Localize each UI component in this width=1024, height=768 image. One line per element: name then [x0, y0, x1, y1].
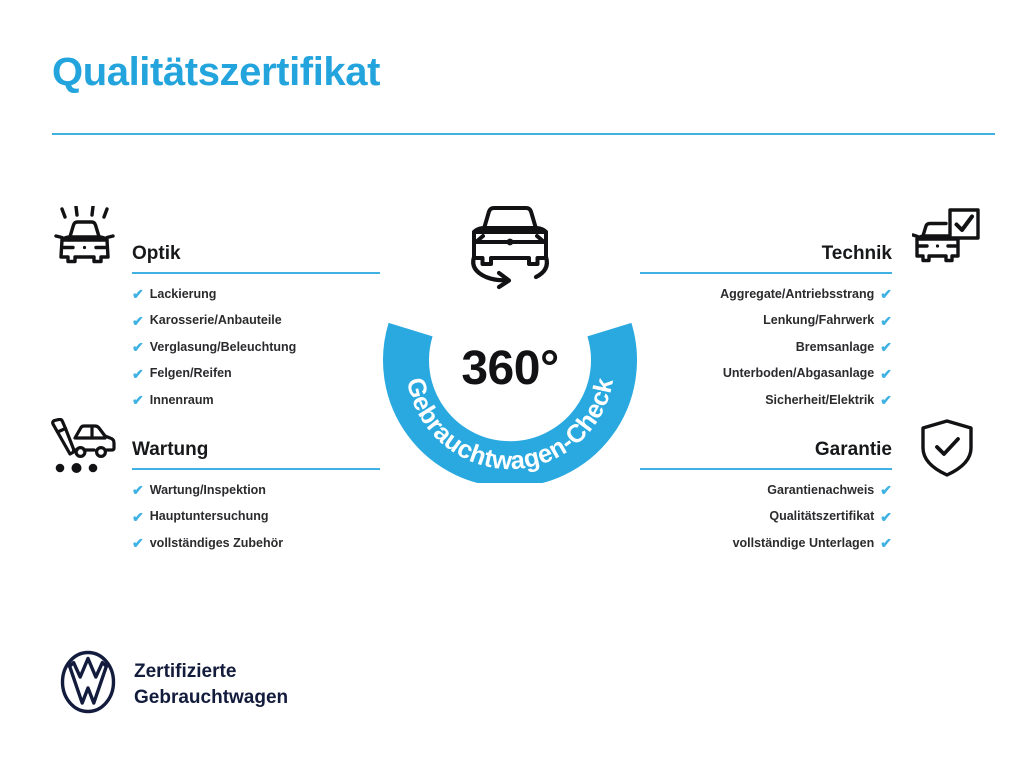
list-item-label: Bremsanlage [796, 341, 875, 354]
header-divider [52, 133, 995, 135]
section-heading-optik: Optik [132, 244, 380, 263]
list-item-label: vollständiges Zubehör [150, 537, 283, 550]
check-icon: ✔ [132, 287, 144, 301]
list-item-label: Karosserie/Anbauteile [150, 314, 282, 327]
list-item: ✔Unterboden/Abgasanlage [640, 367, 892, 381]
list-item-label: Wartung/Inspektion [150, 484, 266, 497]
car-checkbox-icon [912, 208, 980, 268]
logo-text-line1: Zertifizierte [134, 659, 288, 684]
list-item-label: Felgen/Reifen [150, 367, 232, 380]
page-title: Qualitätszertifikat [52, 50, 380, 94]
list-item: ✔Garantienachweis [640, 483, 892, 497]
list-item: ✔Felgen/Reifen [132, 367, 380, 381]
list-item: ✔vollständiges Zubehör [132, 536, 380, 550]
list-item-label: Lenkung/Fahrwerk [763, 314, 874, 327]
list-item-label: Garantienachweis [767, 484, 874, 497]
list-item-label: Qualitätszertifikat [769, 510, 874, 523]
vw-certified-logo: Zertifizierte Gebrauchtwagen [60, 650, 288, 719]
check-icon: ✔ [132, 314, 144, 328]
car-front-shine-icon [48, 206, 122, 268]
list-item-label: vollständige Unterlagen [733, 537, 875, 550]
list-item: ✔Innenraum [132, 393, 380, 407]
check-icon: ✔ [132, 483, 144, 497]
section-optik: Optik ✔Lackierung ✔Karosserie/Anbauteile… [132, 244, 380, 420]
section-heading-wartung: Wartung [132, 440, 380, 459]
check-icon: ✔ [880, 287, 892, 301]
section-heading-garantie: Garantie [640, 440, 892, 459]
vw-logo-icon [60, 650, 116, 719]
badge-number: 360° [376, 345, 644, 393]
list-item-label: Innenraum [150, 394, 214, 407]
check-icon: ✔ [880, 510, 892, 524]
section-divider-wartung [132, 468, 380, 470]
check-icon: ✔ [132, 340, 144, 354]
logo-text-line2: Gebrauchtwagen [134, 685, 288, 710]
check-icon: ✔ [880, 536, 892, 550]
section-heading-technik: Technik [640, 244, 892, 263]
check-icon: ✔ [880, 340, 892, 354]
list-item-label: Aggregate/Antriebsstrang [720, 288, 874, 301]
list-item: ✔Qualitätszertifikat [640, 510, 892, 524]
list-item: ✔Sicherheit/Elektrik [640, 393, 892, 407]
wrench-car-icon [48, 418, 118, 476]
car-rotate-icon [452, 198, 568, 294]
check-icon: ✔ [880, 314, 892, 328]
checklist-optik: ✔Lackierung ✔Karosserie/Anbauteile ✔Verg… [132, 287, 380, 407]
list-item-label: Verglasung/Beleuchtung [150, 341, 297, 354]
list-item: ✔Lenkung/Fahrwerk [640, 314, 892, 328]
certificate-page: Qualitätszertifikat Optik [0, 0, 1024, 768]
section-technik: Technik ✔Aggregate/Antriebsstrang ✔Lenku… [640, 244, 892, 420]
check-icon: ✔ [880, 483, 892, 497]
checklist-garantie: ✔Garantienachweis ✔Qualitätszertifikat ✔… [640, 483, 892, 550]
list-item: ✔Wartung/Inspektion [132, 483, 380, 497]
check-icon: ✔ [880, 367, 892, 381]
section-divider-optik [132, 272, 380, 274]
check-icon: ✔ [132, 536, 144, 550]
checklist-wartung: ✔Wartung/Inspektion ✔Hauptuntersuchung ✔… [132, 483, 380, 550]
list-item: ✔vollständige Unterlagen [640, 536, 892, 550]
list-item: ✔Bremsanlage [640, 340, 892, 354]
section-wartung: Wartung ✔Wartung/Inspektion ✔Hauptunters… [132, 440, 380, 563]
list-item-label: Hauptuntersuchung [150, 510, 269, 523]
checklist-technik: ✔Aggregate/Antriebsstrang ✔Lenkung/Fahrw… [640, 287, 892, 407]
shield-check-icon [918, 418, 976, 478]
list-item: ✔Lackierung [132, 287, 380, 301]
list-item-label: Lackierung [150, 288, 217, 301]
list-item: ✔Hauptuntersuchung [132, 510, 380, 524]
section-divider-technik [640, 272, 892, 274]
check-icon: ✔ [132, 510, 144, 524]
list-item: ✔Verglasung/Beleuchtung [132, 340, 380, 354]
section-garantie: Garantie ✔Garantienachweis ✔Qualitätszer… [640, 440, 892, 563]
list-item: ✔Karosserie/Anbauteile [132, 314, 380, 328]
section-divider-garantie [640, 468, 892, 470]
list-item-label: Sicherheit/Elektrik [765, 394, 874, 407]
list-item-label: Unterboden/Abgasanlage [723, 367, 874, 380]
list-item: ✔Aggregate/Antriebsstrang [640, 287, 892, 301]
check-icon: ✔ [132, 367, 144, 381]
check-icon: ✔ [132, 393, 144, 407]
check-icon: ✔ [880, 393, 892, 407]
logo-text: Zertifizierte Gebrauchtwagen [134, 659, 288, 709]
